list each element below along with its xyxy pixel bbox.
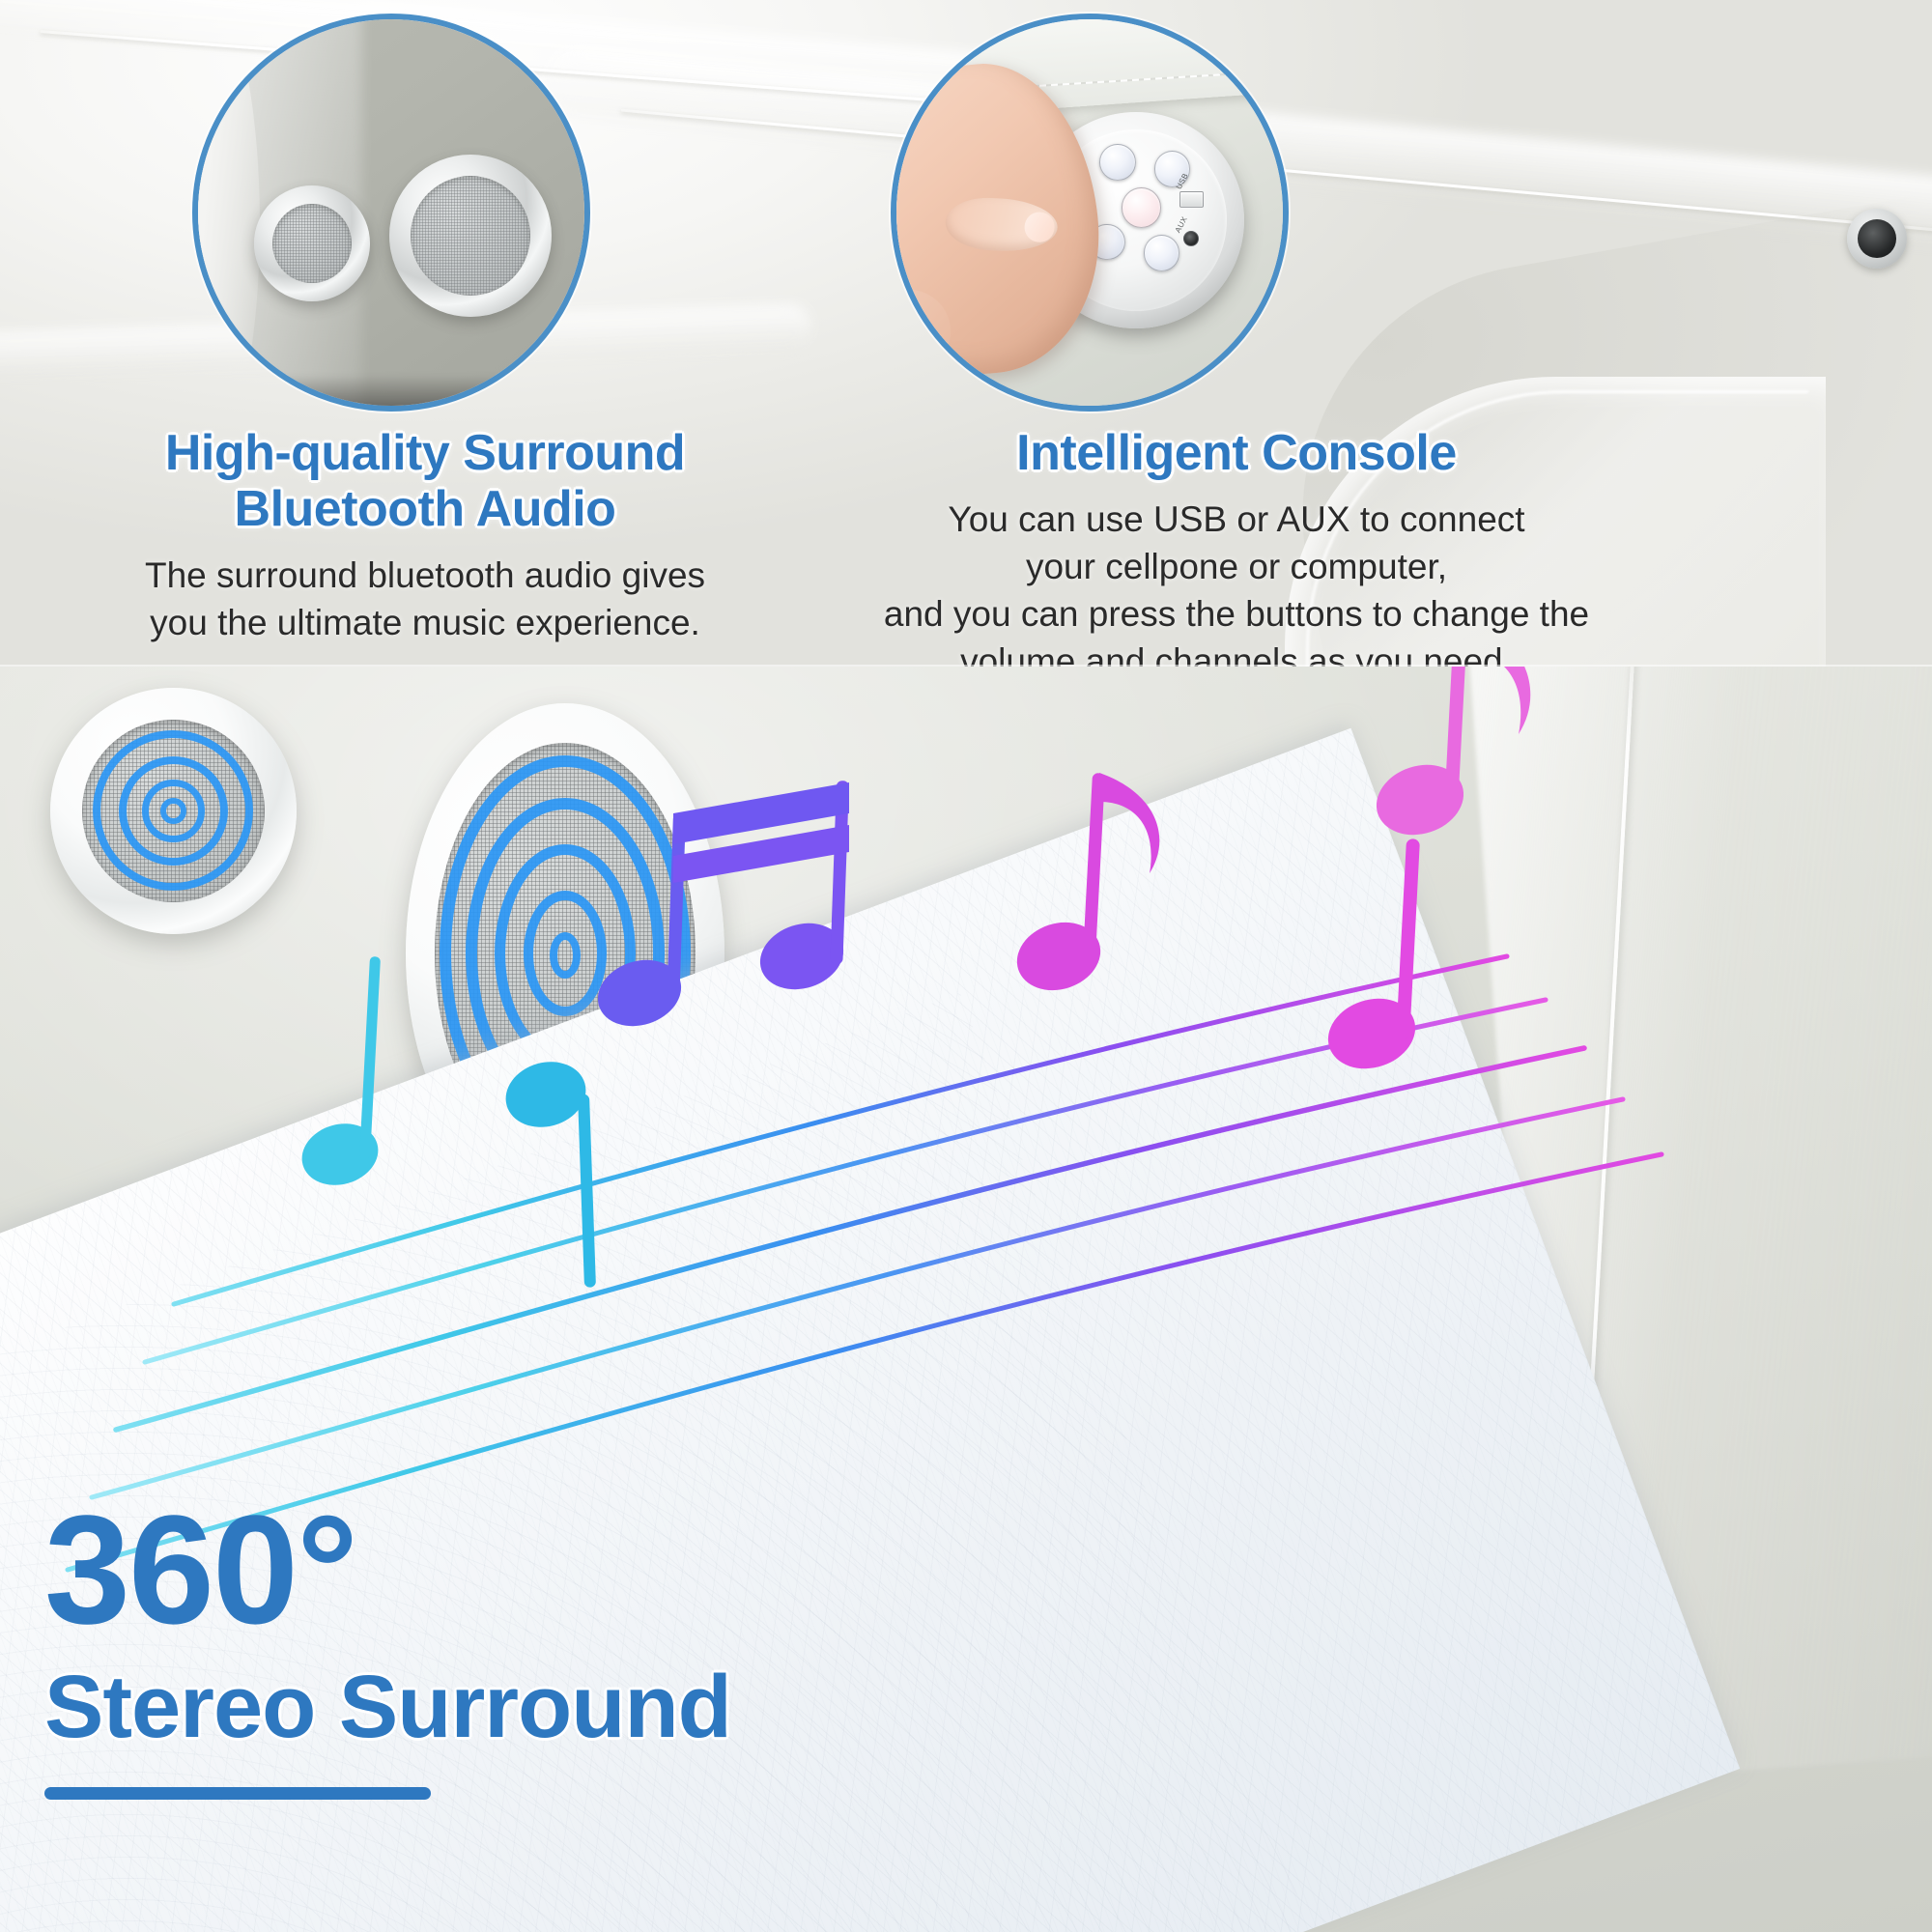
- feature-block-console: Intelligent Console You can use USB or A…: [753, 425, 1719, 667]
- hero-stereo-surround: Stereo Surround: [44, 1661, 914, 1754]
- feature-title-console: Intelligent Console: [753, 425, 1719, 481]
- feature-title-line-1: Intelligent Console: [753, 425, 1719, 481]
- feature-title-audio: High-quality Surround Bluetooth Audio: [68, 425, 782, 537]
- feature-body-line-1: You can use USB or AUX to connect: [753, 497, 1719, 544]
- console-button-up-icon[interactable]: [1099, 144, 1136, 181]
- top-left-speaker: [50, 688, 297, 934]
- console-button-power-icon[interactable]: [1144, 235, 1180, 271]
- usb-port-icon[interactable]: [1179, 191, 1203, 208]
- sound-ring: [160, 798, 185, 823]
- feature-body-audio: The surround bluetooth audio gives you t…: [68, 553, 782, 647]
- sound-ring: [550, 932, 581, 979]
- inset-small-speaker: [254, 185, 370, 301]
- feature-title-line-1: High-quality Surround: [68, 425, 782, 481]
- aux-port-icon[interactable]: [1183, 231, 1199, 246]
- feature-body-line-2: you the ultimate music experience.: [68, 600, 782, 647]
- top-feature-section: USB AUX High-quality Surround Bluetooth …: [0, 0, 1932, 667]
- feature-body-line-2: your cellpone or computer,: [753, 544, 1719, 591]
- hero-underline-bar: [44, 1787, 431, 1800]
- inset-large-speaker: [389, 155, 552, 317]
- fingernail: [1024, 212, 1055, 243]
- feature-title-line-2: Bluetooth Audio: [68, 481, 782, 537]
- sofa-side-jack-hole: [1858, 219, 1896, 258]
- index-finger: [944, 195, 1059, 253]
- feature-block-audio: High-quality Surround Bluetooth Audio Th…: [68, 425, 782, 647]
- inset-photo-speakers: [192, 14, 590, 412]
- feature-body-line-3: and you can press the buttons to change …: [753, 591, 1719, 639]
- speaker-mesh: [82, 720, 265, 902]
- speaker-mesh: [411, 176, 530, 296]
- hero-title-block: 360° Stereo Surround: [44, 1492, 914, 1800]
- feature-body-console: You can use USB or AUX to connect your c…: [753, 497, 1719, 667]
- feature-body-line-1: The surround bluetooth audio gives: [68, 553, 782, 600]
- speaker-mesh: [272, 204, 352, 283]
- hero-360-degree: 360°: [44, 1492, 914, 1647]
- feature-body-line-4: volume and channels as you need.: [753, 639, 1719, 667]
- inset-photo-console: USB AUX: [891, 14, 1289, 412]
- console-button-center-icon[interactable]: [1122, 187, 1161, 227]
- sofa-side-jack: [1847, 209, 1907, 269]
- thumb: [891, 284, 955, 376]
